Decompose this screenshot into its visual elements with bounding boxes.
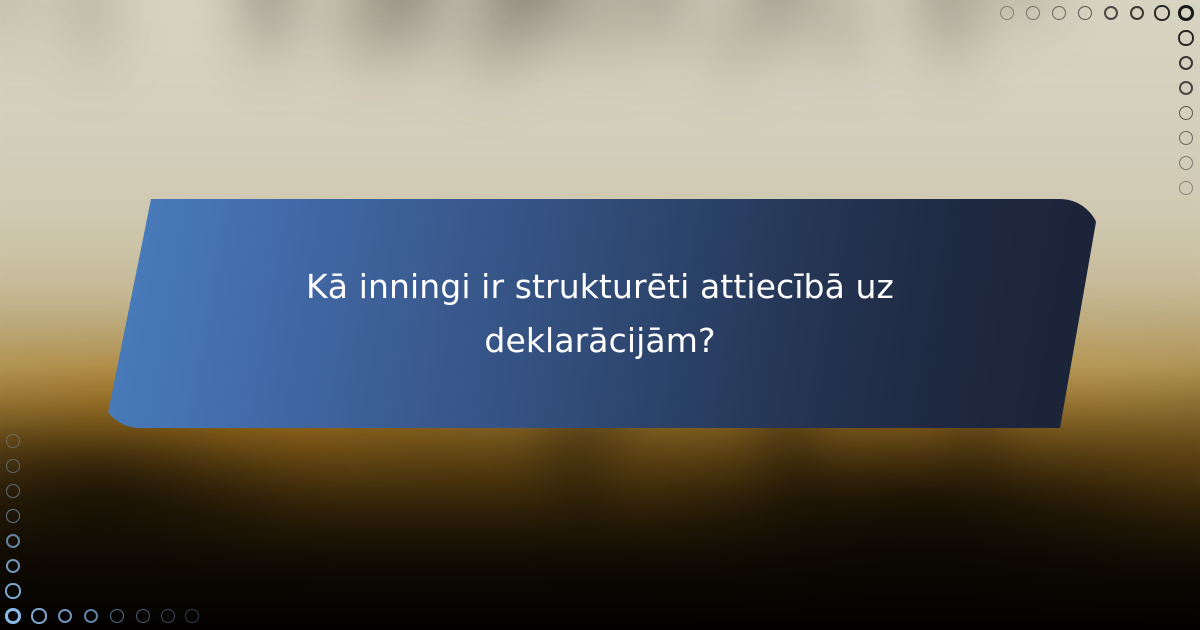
question-card: Kā inningi ir strukturēti attiecībā uz d… xyxy=(100,199,1100,428)
question-card-body: Kā inningi ir strukturēti attiecībā uz d… xyxy=(220,260,980,367)
question-text: Kā inningi ir strukturēti attiecībā uz d… xyxy=(220,260,980,367)
share-card-canvas: Kā inningi ir strukturēti attiecībā uz d… xyxy=(0,0,1200,630)
